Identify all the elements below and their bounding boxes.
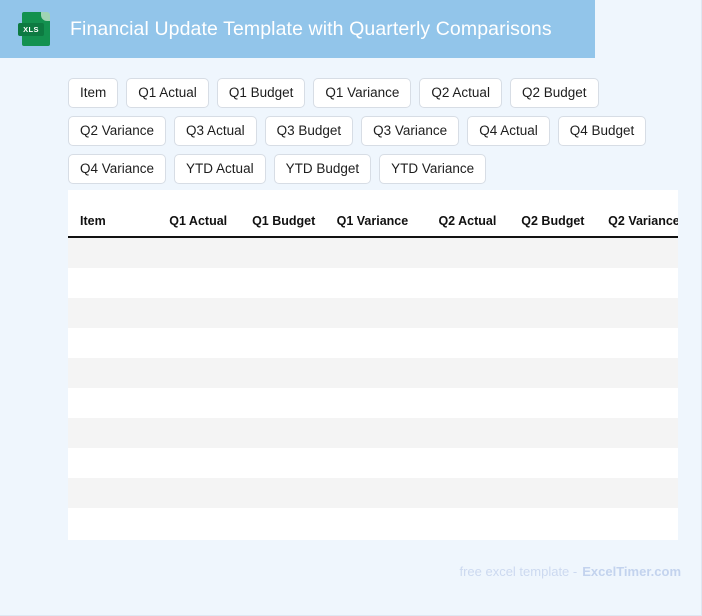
table-header: Item Q1 Actual Q1 Budget Q1 Variance Q2 … [68,190,678,237]
column-chip[interactable]: Q4 Variance [68,154,166,184]
table-cell[interactable] [418,388,506,418]
table-cell[interactable] [418,508,506,538]
table-row[interactable] [68,268,678,298]
table-row[interactable] [68,328,678,358]
table-cell[interactable] [237,328,325,358]
table-row[interactable] [68,508,678,538]
xls-icon-label: XLS [18,23,44,36]
column-chip[interactable]: YTD Actual [174,154,266,184]
table-row[interactable] [68,478,678,508]
table-cell[interactable] [237,298,325,328]
table-cell[interactable] [594,508,678,538]
column-header-item[interactable]: Item [68,190,149,237]
table-cell[interactable] [418,298,506,328]
footer-text: free excel template - [459,564,577,579]
table-cell[interactable] [594,268,678,298]
table-cell[interactable] [237,418,325,448]
column-chip[interactable]: Q2 Actual [419,78,502,108]
footer-brand[interactable]: ExcelTimer.com [582,564,681,579]
table-cell[interactable] [506,268,594,298]
table-cell[interactable] [418,237,506,268]
table-cell[interactable] [506,358,594,388]
table-cell[interactable] [237,237,325,268]
table-cell[interactable] [506,328,594,358]
table-cell[interactable] [506,388,594,418]
table-cell[interactable] [149,298,237,328]
table-cell[interactable] [325,268,418,298]
table-cell[interactable] [325,478,418,508]
table-cell[interactable] [237,478,325,508]
table-row[interactable] [68,388,678,418]
table-cell[interactable] [149,358,237,388]
table-cell[interactable] [506,418,594,448]
column-chip[interactable]: YTD Budget [274,154,372,184]
table-cell[interactable] [149,237,237,268]
table-cell[interactable] [506,478,594,508]
table-cell[interactable] [506,237,594,268]
xls-icon-fold [41,12,50,21]
table-cell[interactable] [506,508,594,538]
table-cell[interactable] [594,478,678,508]
table-cell[interactable] [594,328,678,358]
table-cell[interactable] [506,448,594,478]
column-chip[interactable]: YTD Variance [379,154,486,184]
column-header-q2-variance[interactable]: Q2 Variance [594,190,678,237]
table-cell[interactable] [237,448,325,478]
column-chip[interactable]: Q4 Budget [558,116,647,146]
table-cell[interactable] [506,298,594,328]
table-cell[interactable] [237,358,325,388]
table-cell[interactable] [68,298,149,328]
table-cell[interactable] [325,418,418,448]
table-cell[interactable] [149,508,237,538]
table-cell[interactable] [68,448,149,478]
column-chip[interactable]: Q3 Variance [361,116,459,146]
table-cell[interactable] [149,418,237,448]
table-cell[interactable] [68,237,149,268]
table-cell[interactable] [594,237,678,268]
table-cell[interactable] [68,418,149,448]
header-banner: XLS Financial Update Template with Quart… [0,0,595,58]
table-row[interactable] [68,418,678,448]
table-body [68,237,678,538]
table-cell[interactable] [594,448,678,478]
table-cell[interactable] [594,418,678,448]
table-cell[interactable] [418,328,506,358]
column-chip[interactable]: Q4 Actual [467,116,550,146]
data-table: Item Q1 Actual Q1 Budget Q1 Variance Q2 … [68,190,678,538]
table-cell[interactable] [149,268,237,298]
table-cell[interactable] [594,388,678,418]
column-header-q1-variance[interactable]: Q1 Variance [325,190,418,237]
table-cell[interactable] [418,268,506,298]
table-cell[interactable] [237,508,325,538]
table-cell[interactable] [149,388,237,418]
page-title: Financial Update Template with Quarterly… [70,18,552,41]
table-cell[interactable] [325,358,418,388]
table-cell[interactable] [418,478,506,508]
table-cell[interactable] [418,358,506,388]
column-chip[interactable]: Q3 Actual [174,116,257,146]
column-chip[interactable]: Q3 Budget [265,116,354,146]
table-cell[interactable] [68,268,149,298]
xls-file-icon: XLS [22,12,50,46]
column-chip-list: Item Q1 Actual Q1 Budget Q1 Variance Q2 … [68,78,684,184]
table-cell[interactable] [149,448,237,478]
column-chip[interactable]: Q2 Budget [510,78,599,108]
table-cell[interactable] [149,478,237,508]
footer-credit: free excel template -ExcelTimer.com [459,564,681,579]
data-table-container: Item Q1 Actual Q1 Budget Q1 Variance Q2 … [68,190,678,540]
table-cell[interactable] [68,508,149,538]
table-cell[interactable] [68,328,149,358]
table-row[interactable] [68,237,678,268]
table-cell[interactable] [594,298,678,328]
table-row[interactable] [68,448,678,478]
page-root: XLS Financial Update Template with Quart… [0,0,702,616]
column-chip[interactable]: Q1 Budget [217,78,306,108]
table-cell[interactable] [325,298,418,328]
column-header-q2-budget[interactable]: Q2 Budget [506,190,594,237]
table-cell[interactable] [68,388,149,418]
table-cell[interactable] [325,237,418,268]
column-chip[interactable]: Q1 Variance [313,78,411,108]
column-header-q1-budget[interactable]: Q1 Budget [237,190,325,237]
column-chip[interactable]: Q1 Actual [126,78,209,108]
table-cell[interactable] [149,328,237,358]
table-cell[interactable] [325,508,418,538]
table-cell[interactable] [594,358,678,388]
column-header-q2-actual[interactable]: Q2 Actual [418,190,506,237]
table-cell[interactable] [237,268,325,298]
table-cell[interactable] [325,388,418,418]
table-header-row: Item Q1 Actual Q1 Budget Q1 Variance Q2 … [68,190,678,237]
table-cell[interactable] [325,328,418,358]
table-cell[interactable] [418,418,506,448]
column-chip[interactable]: Q2 Variance [68,116,166,146]
column-chip[interactable]: Item [68,78,118,108]
table-row[interactable] [68,358,678,388]
column-header-q1-actual[interactable]: Q1 Actual [149,190,237,237]
table-cell[interactable] [237,388,325,418]
table-cell[interactable] [325,448,418,478]
table-cell[interactable] [68,478,149,508]
table-row[interactable] [68,298,678,328]
table-cell[interactable] [68,358,149,388]
table-cell[interactable] [418,448,506,478]
